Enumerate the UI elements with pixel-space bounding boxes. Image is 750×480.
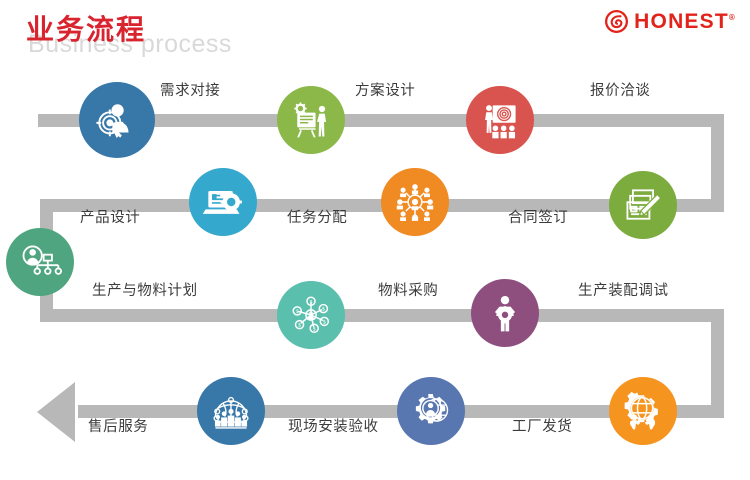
page-title-cn: 业务流程 xyxy=(26,8,146,48)
step-node-3[interactable] xyxy=(466,86,534,154)
svg-text:$: $ xyxy=(313,326,316,332)
step-label-11: 现场安装验收 xyxy=(288,420,379,435)
svg-text:$: $ xyxy=(632,207,635,213)
step-node-12[interactable] xyxy=(609,377,677,445)
svg-text:$: $ xyxy=(298,323,301,329)
step-label-4: 产品设计 xyxy=(80,211,140,226)
svg-text:$: $ xyxy=(296,309,299,315)
step-label-8: 物料采购 xyxy=(378,284,438,299)
worker-gear-icon xyxy=(483,291,527,335)
people-globe-gear-icon xyxy=(621,389,665,433)
svg-text:$: $ xyxy=(322,307,325,313)
step-node-1[interactable] xyxy=(79,82,155,158)
step-label-2: 方案设计 xyxy=(355,84,415,99)
track-right-connector-1 xyxy=(711,114,724,212)
team-globe-icon xyxy=(209,389,253,433)
gear-globe-person-icon xyxy=(409,389,453,433)
step-node-5[interactable] xyxy=(381,168,449,236)
step-label-3: 报价洽谈 xyxy=(590,84,650,99)
step-label-9: 生产装配调试 xyxy=(578,284,669,299)
page-title: Business process 业务流程 xyxy=(14,4,434,66)
business-process-infographic: Business process 业务流程 HONEST® xyxy=(0,0,750,480)
org-chart-person-icon xyxy=(18,240,62,284)
target-person-icon xyxy=(94,97,140,143)
step-node-7[interactable] xyxy=(6,228,74,296)
step-label-1: 需求对接 xyxy=(160,84,220,99)
step-node-9[interactable] xyxy=(471,279,539,347)
step-label-10: 售后服务 xyxy=(88,420,148,435)
svg-text:$: $ xyxy=(309,299,312,305)
step-node-8[interactable]: $ $ $ $ $ $ xyxy=(277,281,345,349)
step-node-2[interactable] xyxy=(277,86,345,154)
step-label-5: 任务分配 xyxy=(287,211,347,226)
step-label-12: 工厂发货 xyxy=(512,420,572,435)
team-gear-network-icon xyxy=(393,180,437,224)
step-label-7: 生产与物料计划 xyxy=(92,284,198,299)
logo-wordmark: HONEST® xyxy=(634,11,736,32)
brand-logo: HONEST® xyxy=(605,8,736,34)
contract-sign-icon: $ xyxy=(621,183,665,227)
meeting-projector-icon xyxy=(478,98,522,142)
step-node-10[interactable] xyxy=(197,377,265,445)
svg-text:$: $ xyxy=(323,319,326,325)
track-right-connector-2 xyxy=(711,309,724,409)
presentation-board-gear-icon xyxy=(289,98,333,142)
step-node-11[interactable] xyxy=(397,377,465,445)
step-label-6: 合同签订 xyxy=(508,211,568,226)
honest-swirl-logo-icon xyxy=(605,10,628,33)
trademark-symbol: ® xyxy=(729,13,736,22)
money-network-icon: $ $ $ $ $ $ xyxy=(289,293,333,337)
step-node-6[interactable]: $ xyxy=(609,171,677,239)
track-row3-horizontal xyxy=(40,309,724,322)
logo-text-label: HONEST xyxy=(634,10,729,33)
left-arrow-head xyxy=(37,382,75,442)
laptop-gear-icon xyxy=(201,180,245,224)
step-node-4[interactable] xyxy=(189,168,257,236)
